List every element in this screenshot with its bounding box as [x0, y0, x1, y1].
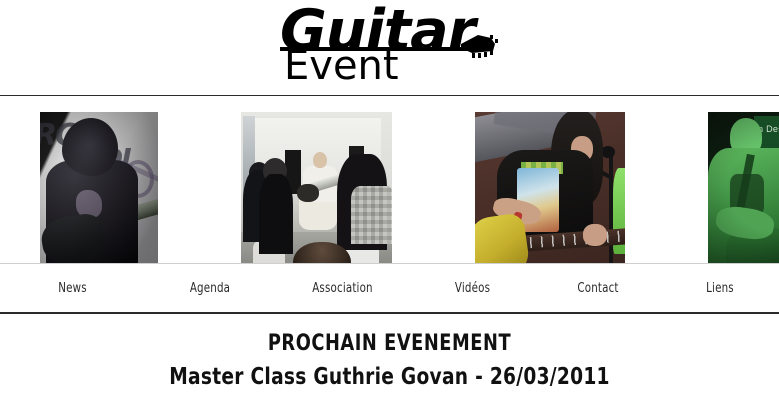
nav-item-liens[interactable]: Liens [668, 281, 772, 296]
hero-photo-3 [475, 112, 625, 263]
nav-item-agenda[interactable]: Agenda [153, 281, 267, 296]
hero-photo-strip: RC DI [0, 96, 779, 263]
hero-photo-4: n Desbordes VS.FR Plus CO [708, 112, 779, 263]
main-content: PROCHAIN EVENEMENT Master Class Guthrie … [0, 314, 779, 392]
photo-separator [432, 96, 435, 263]
nav-item-videos[interactable]: Vidéos [418, 281, 528, 296]
nav-list: News Agenda Association Vidéos Contact L… [0, 264, 779, 312]
site-header: Guitar Event [0, 0, 779, 96]
main-navigation: News Agenda Association Vidéos Contact L… [0, 263, 779, 312]
nav-item-contact[interactable]: Contact [543, 281, 654, 296]
photo-separator [665, 96, 668, 263]
logo-text-event: Event [284, 44, 399, 88]
hero-photo-1: RC DI [40, 112, 158, 263]
photo-separator [198, 96, 201, 263]
next-event-heading: PROCHAIN EVENEMENT [39, 330, 740, 358]
hero-photo-2 [241, 112, 392, 263]
next-event-subheading: Master Class Guthrie Govan - 26/03/2011 [39, 362, 740, 392]
guitar-headstock-icon [460, 34, 500, 62]
nav-item-association[interactable]: Association [283, 281, 402, 296]
site-logo[interactable]: Guitar Event [272, 2, 507, 94]
nav-item-news[interactable]: News [9, 281, 137, 296]
